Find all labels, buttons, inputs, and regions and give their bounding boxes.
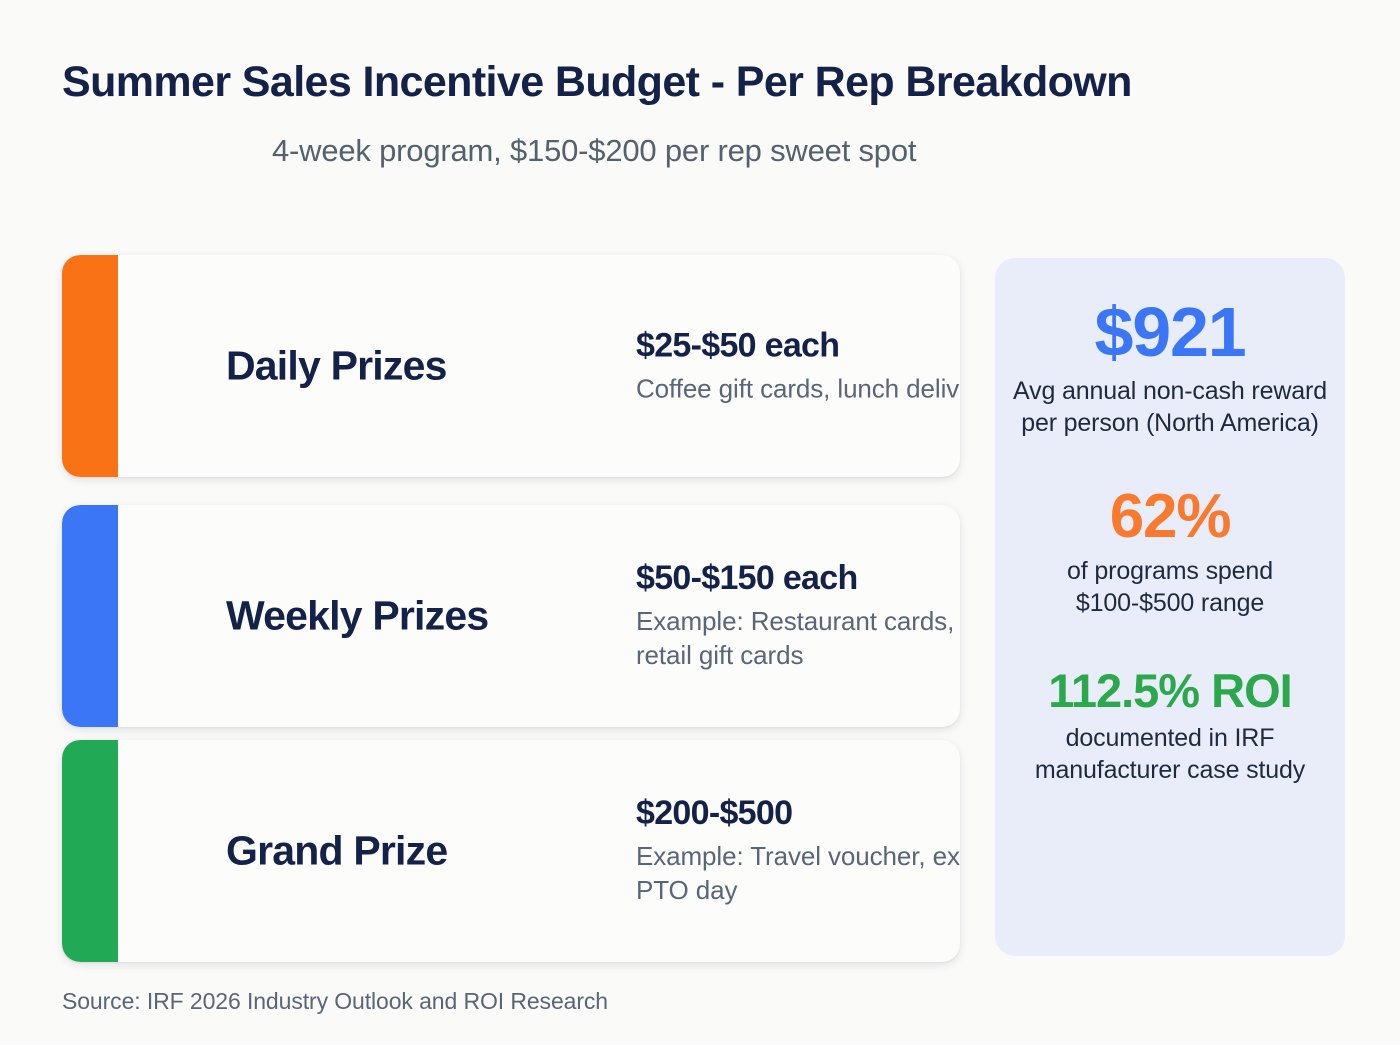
tier-amount: $25-$50 each [636,326,960,365]
page-title: Summer Sales Incentive Budget - Per Rep … [62,58,1352,107]
tier-detail: $50-$150 each Example: Restaurant cards,… [636,559,960,673]
tier-body: Daily Prizes $25-$50 each Coffee gift ca… [118,255,960,477]
page-subtitle: 4-week program, $150-$200 per rep sweet … [272,133,916,169]
accent-bar-green [62,740,118,962]
stat-caption: documented in IRF manufacturer case stud… [1013,722,1327,786]
stat-block-roi: 112.5% ROI documented in IRF manufacture… [1013,667,1327,786]
tier-description: Example: Restaurant cards, retail gift c… [636,604,960,673]
source-note: Source: IRF 2026 Industry Outlook and RO… [62,988,608,1015]
stat-caption: of programs spend $100-$500 range [1013,555,1327,619]
stat-value: $921 [1013,296,1327,369]
stat-caption: Avg annual non-cash reward per person (N… [1013,375,1327,439]
tier-detail: $200-$500 Example: Travel voucher, extra… [636,794,960,908]
accent-bar-blue [62,505,118,727]
tier-body: Grand Prize $200-$500 Example: Travel vo… [118,740,960,962]
tier-card-weekly-prizes: Weekly Prizes $50-$150 each Example: Res… [62,505,960,727]
tier-detail: $25-$50 each Coffee gift cards, lunch de… [636,326,960,405]
tier-body: Weekly Prizes $50-$150 each Example: Res… [118,505,960,727]
stat-block-avg-reward: $921 Avg annual non-cash reward per pers… [1013,296,1327,439]
tier-label: Daily Prizes [226,343,447,390]
tier-description: Example: Travel voucher, extra PTO day [636,839,960,908]
tier-amount: $50-$150 each [636,559,960,598]
infographic-canvas: Summer Sales Incentive Budget - Per Rep … [0,0,1400,1045]
tier-card-daily-prizes: Daily Prizes $25-$50 each Coffee gift ca… [62,255,960,477]
tier-description: Coffee gift cards, lunch delivery [636,371,960,405]
tier-amount: $200-$500 [636,794,960,833]
stats-panel: $921 Avg annual non-cash reward per pers… [995,258,1345,956]
stat-value: 112.5% ROI [1013,667,1327,716]
tier-label: Weekly Prizes [226,593,488,640]
tier-card-grand-prize: Grand Prize $200-$500 Example: Travel vo… [62,740,960,962]
tier-label: Grand Prize [226,828,447,875]
stat-value: 62% [1013,485,1327,549]
stat-block-program-spend: 62% of programs spend $100-$500 range [1013,485,1327,619]
accent-bar-orange [62,255,118,477]
